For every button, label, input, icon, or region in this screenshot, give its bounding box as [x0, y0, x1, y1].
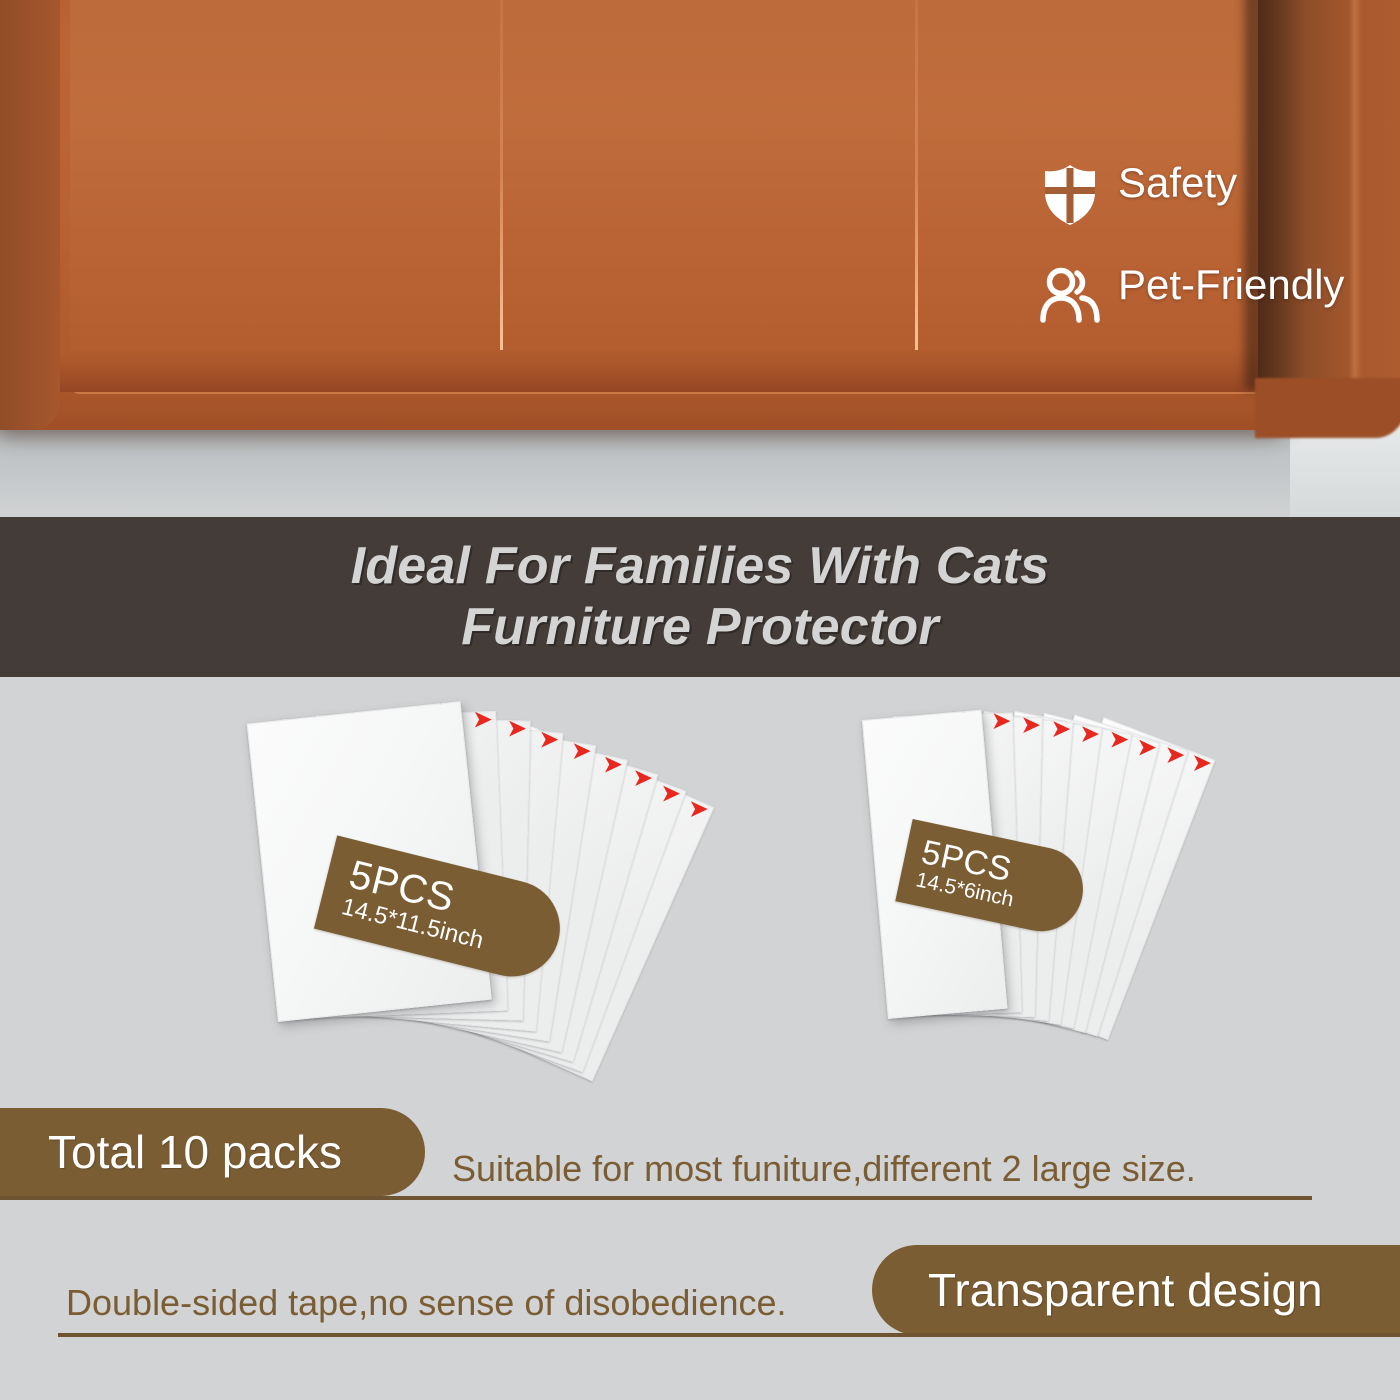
banner-line-1: Ideal For Families With Cats — [351, 536, 1050, 597]
sofa-photo: Safety Pet-Friendly — [0, 0, 1400, 517]
red-arrow-tab-icon: ➤ — [633, 767, 651, 789]
feature-divider-1 — [0, 1196, 1312, 1200]
red-arrow-tab-icon: ➤ — [1109, 729, 1127, 751]
red-arrow-tab-icon: ➤ — [1080, 723, 1098, 745]
sofa-left-arm — [0, 0, 60, 430]
red-arrow-tab-icon: ➤ — [572, 740, 590, 762]
red-arrow-tab-icon: ➤ — [689, 798, 707, 820]
red-arrow-tab-icon: ➤ — [540, 728, 558, 750]
badge-total-packs: Total 10 packs — [0, 1108, 425, 1196]
product-stack-large: 5PCS 14.5*11.5inch ➤➤➤➤➤➤➤➤➤ — [270, 687, 670, 1087]
badge-safety: Safety — [1040, 160, 1360, 226]
red-arrow-tab-icon: ➤ — [991, 710, 1009, 732]
shield-icon — [1040, 160, 1100, 226]
badge-pet-friendly: Pet-Friendly — [1040, 262, 1360, 324]
banner-line-2: Furniture Protector — [461, 597, 939, 658]
sofa-seam-right — [915, 0, 918, 354]
product-infographic: Safety Pet-Friendly Ideal For Families W… — [0, 0, 1400, 1400]
feature-text-tape: Double-sided tape,no sense of disobedien… — [66, 1282, 787, 1324]
badge-transparent-design: Transparent design — [872, 1245, 1400, 1335]
badge-label-pet-friendly: Pet-Friendly — [1118, 262, 1344, 307]
sofa-seam-left — [500, 0, 503, 354]
red-arrow-tab-icon: ➤ — [1051, 718, 1069, 740]
product-stack-narrow: 5PCS 14.5*6inch ➤➤➤➤➤➤➤➤➤ — [880, 687, 1180, 1077]
red-arrow-tab-icon: ➤ — [1165, 744, 1183, 766]
red-arrow-tab-icon: ➤ — [507, 717, 525, 739]
sofa-right-arm-corner — [1255, 378, 1400, 438]
title-banner: Ideal For Families With Cats Furniture P… — [0, 517, 1400, 677]
feature-text-suitable: Suitable for most funiture,different 2 l… — [452, 1148, 1196, 1190]
red-arrow-tab-icon: ➤ — [1137, 736, 1155, 758]
badge-label-safety: Safety — [1118, 160, 1237, 205]
red-arrow-tab-icon: ➤ — [473, 708, 491, 730]
product-showcase: 5PCS 14.5*11.5inch ➤➤➤➤➤➤➤➤➤ 5PCS 14.5*6… — [0, 677, 1400, 1097]
red-arrow-tab-icon: ➤ — [603, 753, 621, 775]
feature-divider-2 — [58, 1333, 1400, 1337]
red-arrow-tab-icon: ➤ — [1021, 713, 1039, 735]
red-arrow-tab-icon: ➤ — [661, 782, 679, 804]
feature-badges: Safety Pet-Friendly — [1040, 160, 1360, 360]
pets-people-icon — [1040, 262, 1100, 324]
red-arrow-tab-icon: ➤ — [1192, 752, 1210, 774]
